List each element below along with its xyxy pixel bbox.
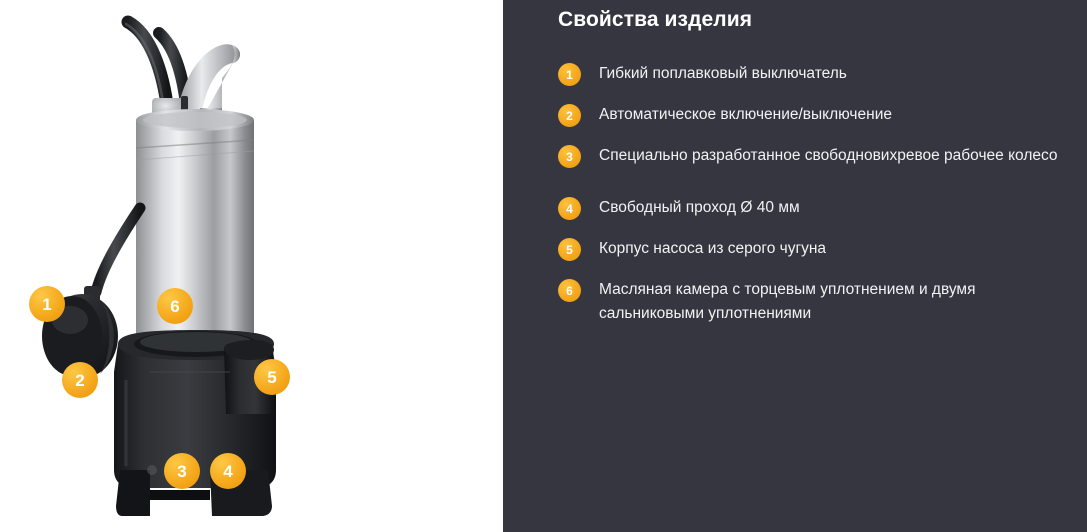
callout-5[interactable]: 5 xyxy=(254,359,290,395)
callout-2[interactable]: 2 xyxy=(62,362,98,398)
feature-badge-6: 6 xyxy=(558,279,581,302)
page-title: Свойства изделия xyxy=(558,8,752,32)
feature-badge-2: 2 xyxy=(558,104,581,127)
feature-label-4: Свободный проход Ø 40 мм xyxy=(599,196,800,220)
callout-4[interactable]: 4 xyxy=(210,453,246,489)
feature-item-5: 5 Корпус насоса из серого чугуна xyxy=(558,237,1069,261)
feature-label-5: Корпус насоса из серого чугуна xyxy=(599,237,826,261)
callout-6[interactable]: 6 xyxy=(157,288,193,324)
feature-item-2: 2 Автоматическое включение/выключение xyxy=(558,103,1069,127)
feature-item-6: 6 Масляная камера с торцевым уплотнением… xyxy=(558,278,1069,326)
feature-badge-3: 3 xyxy=(558,145,581,168)
feature-label-6: Масляная камера с торцевым уплотнением и… xyxy=(599,278,1061,326)
feature-label-1: Гибкий поплавковый выключатель xyxy=(599,62,847,86)
feature-list: 1 Гибкий поплавковый выключатель 2 Автом… xyxy=(558,62,1069,343)
float-switch-cable xyxy=(84,208,140,302)
callout-1[interactable]: 1 xyxy=(29,286,65,322)
feature-item-1: 1 Гибкий поплавковый выключатель xyxy=(558,62,1069,86)
cast-iron-pump-housing xyxy=(114,330,276,516)
product-feature-banner: 1 2 3 4 5 6 Свойства изделия 1 Гибкий по… xyxy=(0,0,1087,532)
feature-label-3: Специально разработанное свободновихрево… xyxy=(599,144,1058,168)
callout-3[interactable]: 3 xyxy=(164,453,200,489)
feature-badge-4: 4 xyxy=(558,197,581,220)
feature-badge-1: 1 xyxy=(558,63,581,86)
feature-item-3: 3 Специально разработанное свободновихре… xyxy=(558,144,1069,168)
feature-badge-5: 5 xyxy=(558,238,581,261)
features-panel: Свойства изделия 1 Гибкий поплавковый вы… xyxy=(503,0,1087,532)
feature-label-2: Автоматическое включение/выключение xyxy=(599,103,892,127)
product-image-pane: 1 2 3 4 5 6 xyxy=(0,0,503,532)
stainless-motor-body xyxy=(136,109,254,362)
feature-item-4: 4 Свободный проход Ø 40 мм xyxy=(558,196,1069,220)
submersible-pump-illustration xyxy=(0,0,503,532)
